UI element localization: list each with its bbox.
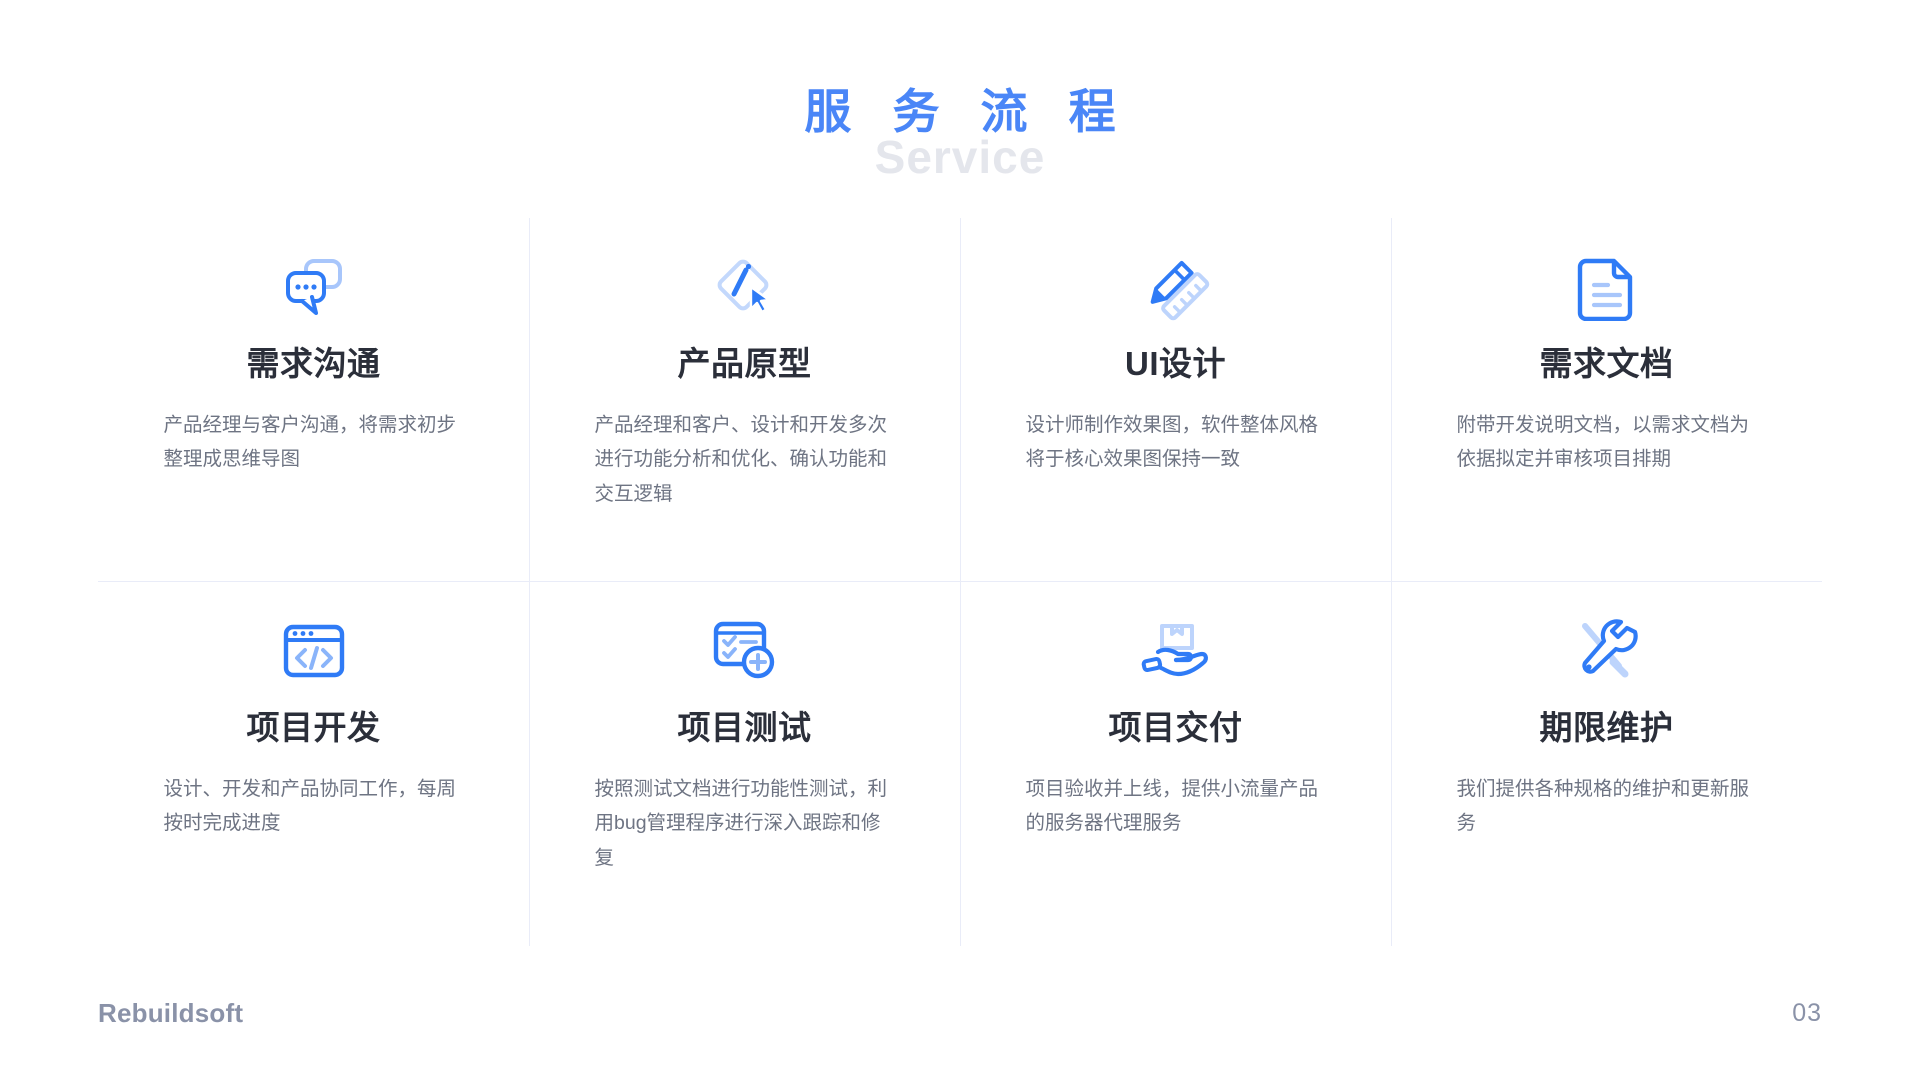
service-card-ui-design[interactable]: UI设计 设计师制作效果图，软件整体风格将于核心效果图保持一致: [960, 218, 1391, 582]
slide-root: Service 服 务 流 程 需求沟通 产品经理与客户沟通，将需求初步整理成思…: [0, 0, 1920, 1080]
section-subtitle-en: Service: [0, 134, 1920, 180]
service-card-project-delivery[interactable]: 项目交付 项目验收并上线，提供小流量产品的服务器代理服务: [960, 582, 1391, 946]
slide-footer: Rebuildsoft 03: [0, 970, 1920, 1080]
brand-label: Rebuildsoft: [98, 998, 243, 1029]
service-card-requirement-communication[interactable]: 需求沟通 产品经理与客户沟通，将需求初步整理成思维导图: [98, 218, 529, 582]
service-card-maintenance[interactable]: 期限维护 我们提供各种规格的维护和更新服务: [1391, 582, 1822, 946]
prototype-cursor-icon: [569, 244, 920, 330]
card-title: 产品原型: [678, 344, 812, 384]
service-grid: 需求沟通 产品经理与客户沟通，将需求初步整理成思维导图 产品原型 产品经理和客户…: [98, 218, 1822, 946]
card-title: 需求沟通: [247, 344, 381, 384]
card-description: 设计师制作效果图，软件整体风格将于核心效果图保持一致: [1026, 408, 1326, 477]
slide-header: Service 服 务 流 程: [0, 60, 1920, 200]
card-title: 期限维护: [1540, 708, 1674, 748]
page-number: 03: [1792, 999, 1822, 1028]
card-description: 附带开发说明文档，以需求文档为依据拟定并审核项目排期: [1457, 408, 1757, 477]
code-window-icon: [138, 608, 489, 694]
checklist-plus-icon: [569, 608, 920, 694]
card-description: 产品经理和客户、设计和开发多次进行功能分析和优化、确认功能和交互逻辑: [595, 408, 895, 512]
card-description: 产品经理与客户沟通，将需求初步整理成思维导图: [164, 408, 464, 477]
pencil-ruler-icon: [1000, 244, 1351, 330]
card-description: 设计、开发和产品协同工作，每周按时完成进度: [164, 772, 464, 841]
card-title: 需求文档: [1540, 344, 1674, 384]
card-title: 项目开发: [247, 708, 381, 748]
service-card-requirement-document[interactable]: 需求文档 附带开发说明文档，以需求文档为依据拟定并审核项目排期: [1391, 218, 1822, 582]
card-description: 按照测试文档进行功能性测试，利用bug管理程序进行深入跟踪和修复: [595, 772, 895, 876]
service-card-project-testing[interactable]: 项目测试 按照测试文档进行功能性测试，利用bug管理程序进行深入跟踪和修复: [529, 582, 960, 946]
hand-package-icon: [1000, 608, 1351, 694]
card-description: 我们提供各种规格的维护和更新服务: [1457, 772, 1757, 841]
card-title: UI设计: [1125, 344, 1226, 384]
card-title: 项目交付: [1109, 708, 1243, 748]
section-title-cn: 服 务 流 程: [0, 86, 1920, 138]
document-icon: [1431, 244, 1782, 330]
card-description: 项目验收并上线，提供小流量产品的服务器代理服务: [1026, 772, 1326, 841]
service-card-project-development[interactable]: 项目开发 设计、开发和产品协同工作，每周按时完成进度: [98, 582, 529, 946]
chat-bubbles-icon: [138, 244, 489, 330]
title-stack: Service 服 务 流 程: [0, 60, 1920, 200]
service-card-product-prototype[interactable]: 产品原型 产品经理和客户、设计和开发多次进行功能分析和优化、确认功能和交互逻辑: [529, 218, 960, 582]
card-title: 项目测试: [678, 708, 812, 748]
wrench-screwdriver-icon: [1431, 608, 1782, 694]
